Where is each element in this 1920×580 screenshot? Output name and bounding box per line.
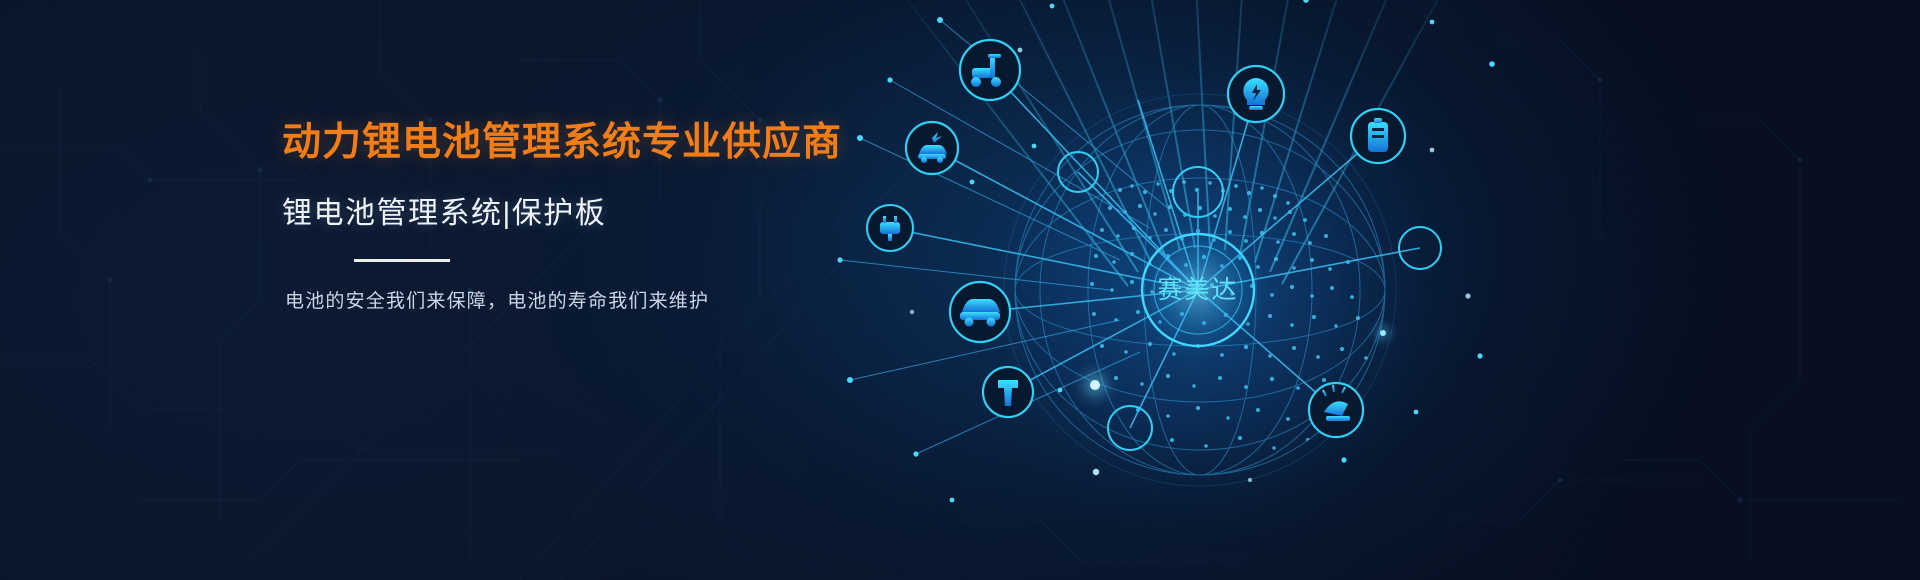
hero-copy: 动力锂电池管理系统专业供应商 锂电池管理系统|保护板 电池的安全我们来保障，电池…	[282, 118, 842, 316]
node-scooter[interactable]	[960, 40, 1020, 100]
battery-pack-icon	[1368, 118, 1388, 152]
node-lamp[interactable]	[1309, 383, 1363, 437]
node-bulb[interactable]	[1228, 66, 1284, 122]
node-drill[interactable]	[983, 367, 1033, 417]
node-ebike[interactable]	[906, 122, 958, 174]
node-battery[interactable]	[1351, 109, 1405, 163]
hub-label: 赛美达	[1157, 276, 1238, 304]
globe-hub[interactable]: 赛美达	[1120, 212, 1276, 368]
node-plug[interactable]	[867, 205, 913, 251]
network-globe-graphic: 赛美达	[820, 0, 1580, 580]
page-title: 动力锂电池管理系统专业供应商	[282, 118, 842, 168]
node-car[interactable]	[950, 282, 1010, 342]
title-divider	[354, 259, 450, 262]
hero-tagline: 电池的安全我们来保障，电池的寿命我们来维护	[285, 288, 842, 317]
hero-subtitle: 锂电池管理系统|保护板	[282, 194, 842, 233]
hero-banner: 动力锂电池管理系统专业供应商 锂电池管理系统|保护板 电池的安全我们来保障，电池…	[0, 0, 1920, 580]
